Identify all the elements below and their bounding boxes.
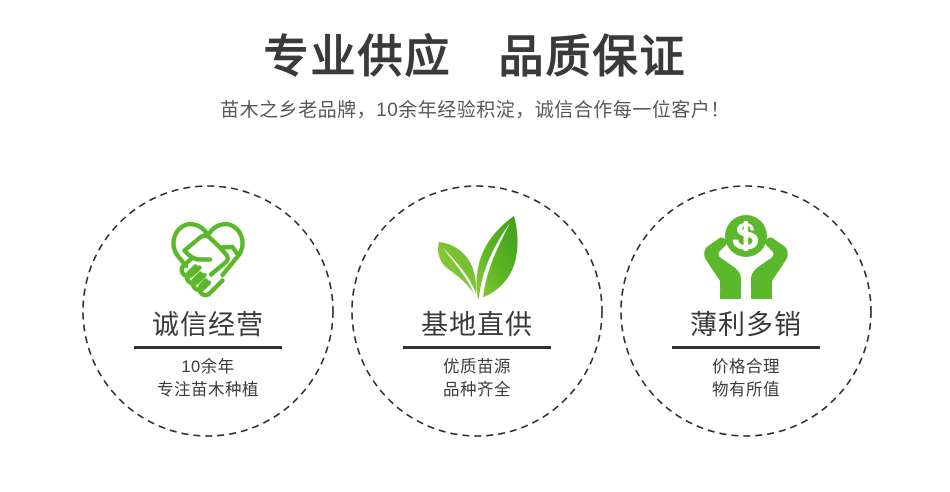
- feature-circle-row: 诚信经营 10余年 专注苗木种植: [0, 185, 950, 440]
- promo-banner: 专业供应 品质保证 苗木之乡老品牌，10余年经验积淀，诚信合作每一位客户！: [0, 0, 950, 492]
- feature-card-title: 基地直供: [421, 309, 533, 341]
- feature-desc-line-2: 物有所值: [712, 379, 780, 402]
- feature-desc-line-1: 10余年: [157, 356, 259, 379]
- feature-desc-line-1: 价格合理: [712, 356, 780, 379]
- feature-desc-line-1: 优质苗源: [443, 356, 511, 379]
- feature-desc-line-2: 专注苗木种植: [157, 379, 259, 402]
- hands-holding-coin-icon: [700, 207, 792, 307]
- banner-subtitle: 苗木之乡老品牌，10余年经验积淀，诚信合作每一位客户！: [0, 98, 950, 124]
- banner-title: 专业供应 品质保证: [0, 30, 950, 84]
- title-divider: [134, 346, 282, 349]
- feature-card-direct-supply[interactable]: 基地直供 优质苗源 品种齐全: [351, 185, 603, 437]
- feature-card-integrity[interactable]: 诚信经营 10余年 专注苗木种植: [82, 185, 334, 437]
- feature-card-description: 价格合理 物有所值: [712, 356, 780, 402]
- feature-card-description: 10余年 专注苗木种植: [157, 356, 259, 402]
- banner-header: 专业供应 品质保证 苗木之乡老品牌，10余年经验积淀，诚信合作每一位客户！: [0, 30, 950, 124]
- feature-card-description: 优质苗源 品种齐全: [443, 356, 511, 402]
- feature-desc-line-2: 品种齐全: [443, 379, 511, 402]
- feature-card-low-price[interactable]: 薄利多销 价格合理 物有所值: [620, 185, 872, 437]
- leaf-icon: [434, 207, 520, 307]
- handshake-heart-icon: [164, 207, 252, 307]
- title-divider: [672, 346, 820, 349]
- title-divider: [403, 346, 551, 349]
- feature-card-title: 诚信经营: [152, 309, 264, 341]
- feature-card-title: 薄利多销: [690, 309, 802, 341]
